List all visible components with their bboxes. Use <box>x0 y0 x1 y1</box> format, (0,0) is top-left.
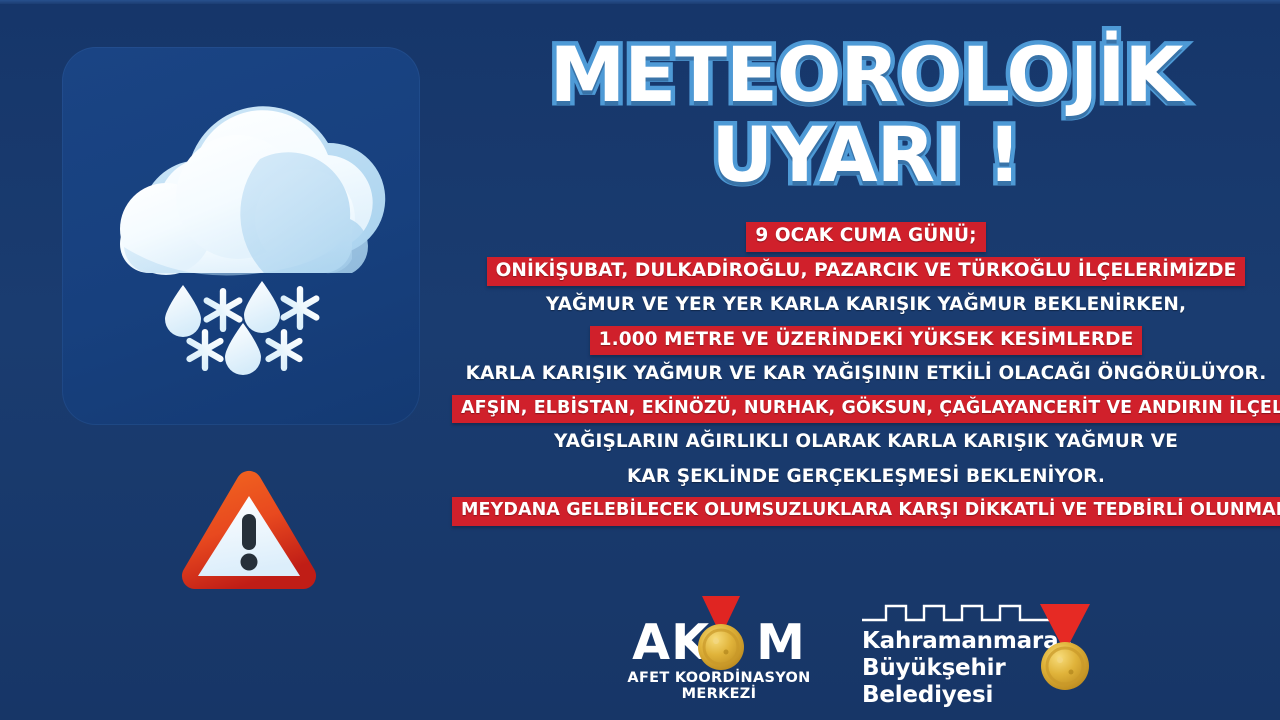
warning-line: YAĞMUR VE YER YER KARLA KARIŞIK YAĞMUR B… <box>452 291 1280 321</box>
warning-line-text: MEYDANA GELEBİLECEK OLUMSUZLUKLARA KARŞI… <box>452 497 1280 526</box>
warning-text-block: 9 OCAK CUMA GÜNÜ;ONİKİŞUBAT, DULKADİROĞL… <box>452 222 1280 531</box>
warning-line-text: KAR ŞEKLİNDE GERÇEKLEŞMESİ BEKLENİYOR. <box>618 463 1114 493</box>
left-illustration-column <box>0 0 452 720</box>
warning-line: AFŞİN, ELBİSTAN, EKİNÖZÜ, NURHAK, GÖKSUN… <box>452 395 1280 424</box>
castle-battlement-icon <box>862 598 1062 624</box>
warning-line: KAR ŞEKLİNDE GERÇEKLEŞMESİ BEKLENİYOR. <box>452 463 1280 493</box>
warning-line-text: AFŞİN, ELBİSTAN, EKİNÖZÜ, NURHAK, GÖKSUN… <box>452 395 1280 424</box>
warning-line-text: KARLA KARIŞIK YAĞMUR VE KAR YAĞIŞININ ET… <box>457 360 1276 390</box>
footer-logos: AK M <box>452 594 1280 706</box>
warning-line: MEYDANA GELEBİLECEK OLUMSUZLUKLARA KARŞI… <box>452 497 1280 526</box>
cloud-rain-snow-icon <box>62 47 420 425</box>
akom-subtitle: AFET KOORDİNASYON MERKEZİ <box>620 670 818 702</box>
municipality-logo: Kahramanmaraş Büyükşehir Belediyesi <box>862 594 1112 698</box>
municipality-line-1: Kahramanmaraş <box>862 628 1058 655</box>
warning-triangle-icon <box>176 466 322 592</box>
warning-line-text: YAĞMUR VE YER YER KARLA KARIŞIK YAĞMUR B… <box>537 291 1195 321</box>
municipality-line-2: Büyükşehir Belediyesi <box>862 655 1058 709</box>
page-title: METEOROLOJİK UYARI ! <box>452 38 1280 193</box>
akom-medal-icon <box>692 596 750 672</box>
municipality-wordmark: Kahramanmaraş Büyükşehir Belediyesi <box>862 628 1058 709</box>
warning-line: ONİKİŞUBAT, DULKADİROĞLU, PAZARCIK VE TÜ… <box>452 257 1280 287</box>
municipality-medal-icon <box>1034 602 1096 694</box>
warning-line-text: 1.000 METRE VE ÜZERİNDEKİ YÜKSEK KESİMLE… <box>590 326 1143 356</box>
warning-line-text: ONİKİŞUBAT, DULKADİROĞLU, PAZARCIK VE TÜ… <box>487 257 1246 287</box>
warning-line: 1.000 METRE VE ÜZERİNDEKİ YÜKSEK KESİMLE… <box>452 326 1280 356</box>
warning-line-text: YAĞIŞLARIN AĞIRLIKLI OLARAK KARLA KARIŞI… <box>545 428 1187 458</box>
meteorological-warning-poster: METEOROLOJİK UYARI ! 9 OCAK CUMA GÜNÜ;ON… <box>0 0 1280 720</box>
akom-word-right: M <box>756 614 806 671</box>
warning-line: 9 OCAK CUMA GÜNÜ; <box>452 222 1280 252</box>
warning-line: KARLA KARIŞIK YAĞMUR VE KAR YAĞIŞININ ET… <box>452 360 1280 390</box>
weather-icon-tile <box>62 47 420 425</box>
title-line-2: UYARI ! <box>452 118 1280 192</box>
warning-line-text: 9 OCAK CUMA GÜNÜ; <box>746 222 985 252</box>
warning-line: YAĞIŞLARIN AĞIRLIKLI OLARAK KARLA KARIŞI… <box>452 428 1280 458</box>
title-line-1: METEOROLOJİK <box>452 38 1280 112</box>
akom-logo: AK M <box>620 594 818 698</box>
